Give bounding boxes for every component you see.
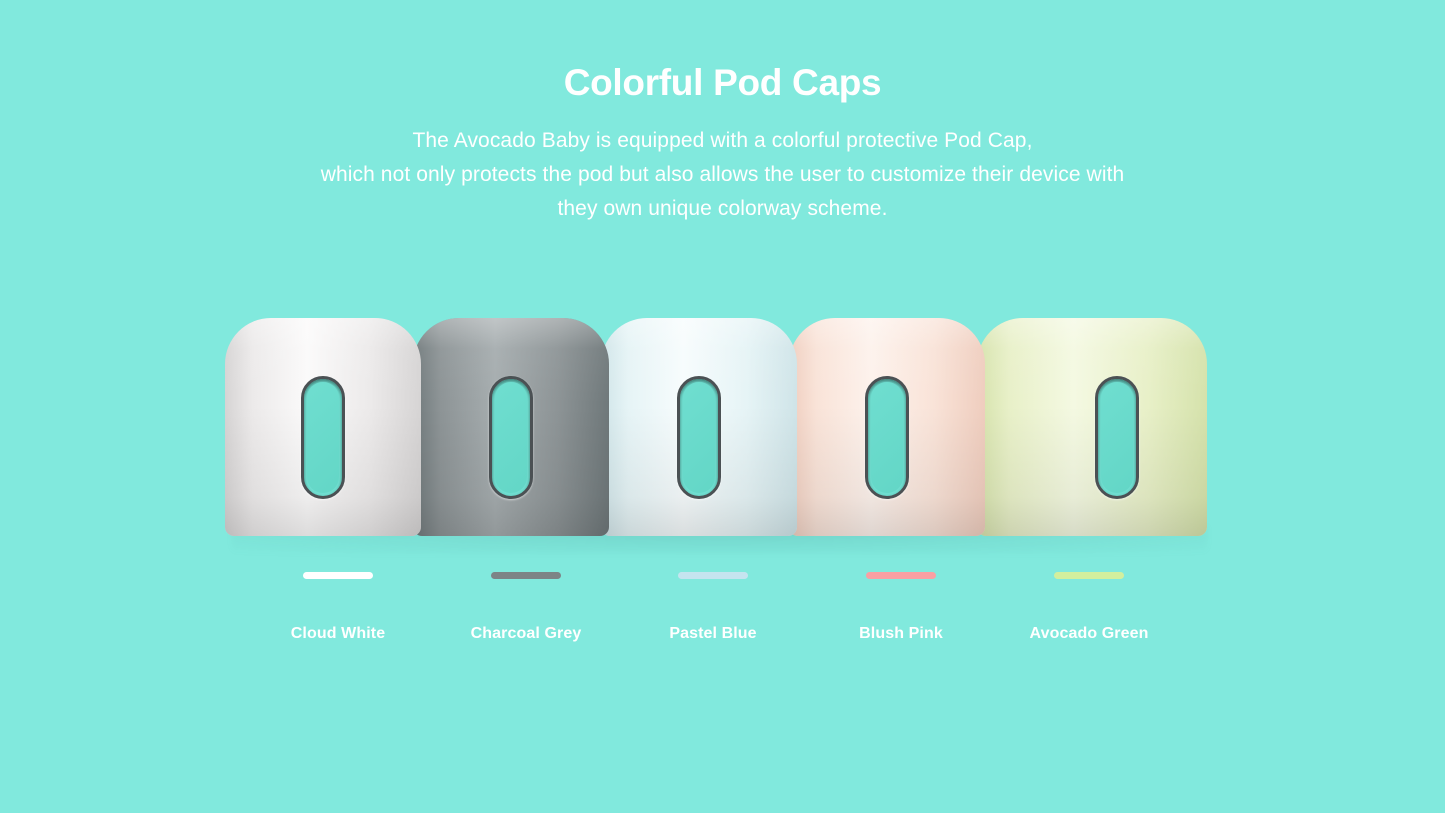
pod-port-rim-avocado-green <box>1095 376 1139 499</box>
page-title: Colorful Pod Caps <box>0 62 1445 105</box>
pod-cap-avocado-green[interactable] <box>977 318 1207 536</box>
pod-port-rim-cloud-white <box>301 376 345 499</box>
pod-port-glass-avocado-green <box>1101 382 1133 493</box>
pod-port-window-pastel-blue <box>677 376 721 499</box>
colorway-swatch-row: Cloud White Charcoal Grey Pastel Blue Bl… <box>225 572 1207 662</box>
page-header: Colorful Pod Caps The Avocado Baby is eq… <box>0 0 1445 226</box>
pod-port-glass-cloud-white <box>307 382 339 493</box>
colorway-label-avocado-green: Avocado Green <box>995 625 1183 643</box>
pod-port-glass-charcoal-grey <box>495 382 527 493</box>
cap-shading-avocado-green <box>977 318 1207 536</box>
pod-cap-charcoal-grey[interactable] <box>413 318 609 536</box>
colorway-option-avocado-green[interactable]: Avocado Green <box>995 572 1183 643</box>
color-swatch-avocado-green[interactable] <box>1054 572 1124 579</box>
pod-port-glass-pastel-blue <box>683 382 715 493</box>
pod-cap-blush-pink[interactable] <box>789 318 985 536</box>
pod-port-glass-blush-pink <box>871 382 903 493</box>
colorway-option-pastel-blue[interactable]: Pastel Blue <box>619 572 807 643</box>
color-swatch-pastel-blue[interactable] <box>678 572 748 579</box>
colorway-label-blush-pink: Blush Pink <box>807 625 995 643</box>
pod-port-window-blush-pink <box>865 376 909 499</box>
pod-caps-row <box>225 318 1207 543</box>
subtitle-line-1: The Avocado Baby is equipped with a colo… <box>0 124 1445 158</box>
color-swatch-charcoal-grey[interactable] <box>491 572 561 579</box>
color-swatch-blush-pink[interactable] <box>866 572 936 579</box>
pod-cap-pastel-blue[interactable] <box>601 318 797 536</box>
pod-port-rim-pastel-blue <box>677 376 721 499</box>
subtitle-line-3: they own unique colorway scheme. <box>0 192 1445 226</box>
pod-port-window-charcoal-grey <box>489 376 533 499</box>
pod-cap-cloud-white[interactable] <box>225 318 421 536</box>
colorway-option-charcoal-grey[interactable]: Charcoal Grey <box>432 572 620 643</box>
pod-port-window-cloud-white <box>301 376 345 499</box>
colorway-option-blush-pink[interactable]: Blush Pink <box>807 572 995 643</box>
subtitle-line-2: which not only protects the pod but also… <box>0 158 1445 192</box>
pod-port-rim-charcoal-grey <box>489 376 533 499</box>
colorway-label-pastel-blue: Pastel Blue <box>619 625 807 643</box>
page-subtitle: The Avocado Baby is equipped with a colo… <box>0 124 1445 226</box>
colorway-option-cloud-white[interactable]: Cloud White <box>244 572 432 643</box>
colorway-label-cloud-white: Cloud White <box>244 625 432 643</box>
colorway-label-charcoal-grey: Charcoal Grey <box>432 625 620 643</box>
pod-port-window-avocado-green <box>1095 376 1139 499</box>
pod-port-rim-blush-pink <box>865 376 909 499</box>
color-swatch-cloud-white[interactable] <box>303 572 373 579</box>
